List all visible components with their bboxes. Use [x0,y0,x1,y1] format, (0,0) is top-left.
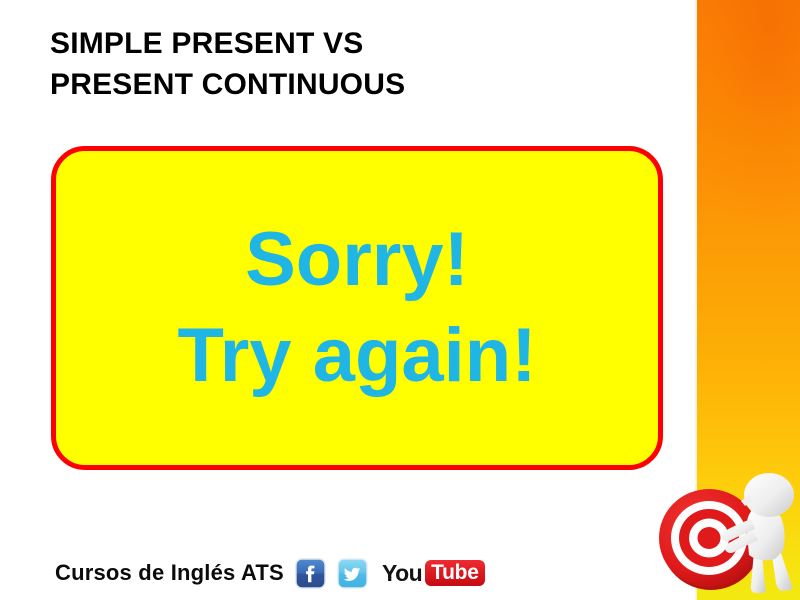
brand-label: Cursos de Inglés ATS [55,560,284,586]
page-title: SIMPLE PRESENT VS PRESENT CONTINUOUS [50,23,670,105]
panel-sheen [697,0,800,330]
message-card: Sorry! Try again! [51,146,663,470]
slide-canvas: SIMPLE PRESENT VS PRESENT CONTINUOUS Sor… [0,0,800,600]
youtube-you-text: You [382,562,422,585]
youtube-tube-text: Tube [425,560,484,586]
message-line-2: Try again! [178,308,537,404]
twitter-icon[interactable] [337,558,368,589]
target-with-3d-figure-image [655,465,800,600]
facebook-icon[interactable] [295,558,326,589]
figure-head [744,473,794,517]
youtube-logo[interactable]: You Tube [382,558,485,588]
message-line-1: Sorry! [245,212,469,308]
footer-bar: Cursos de Inglés ATS [55,554,485,592]
target-bullseye [698,527,721,549]
